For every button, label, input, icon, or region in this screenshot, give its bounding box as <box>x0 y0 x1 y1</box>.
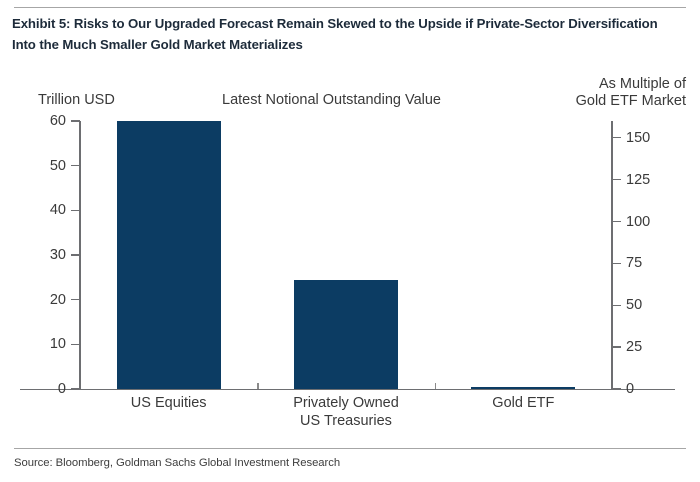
bar[interactable] <box>294 280 398 389</box>
right-axis-caption-line2: Gold ETF Market <box>556 93 686 110</box>
left-axis-tick-label: 40 <box>50 203 66 218</box>
right-axis-tick <box>612 388 621 389</box>
right-axis-tick <box>612 221 621 222</box>
right-axis-tick-label: 125 <box>626 173 650 188</box>
bar-chart: Trillion USD Latest Notional Outstanding… <box>0 0 700 440</box>
right-axis-caption: As Multiple of Gold ETF Market <box>556 76 686 110</box>
x-axis-category-label: Gold ETF <box>435 394 612 412</box>
x-axis-tick <box>257 383 258 389</box>
right-axis-tick-label: 0 <box>626 382 634 397</box>
left-axis-tick <box>71 210 80 211</box>
left-axis-tick <box>71 165 80 166</box>
left-axis-tick <box>71 254 80 255</box>
footer-divider <box>14 448 686 449</box>
chart-title: Latest Notional Outstanding Value <box>222 92 441 109</box>
right-axis-tick-label: 25 <box>626 340 642 355</box>
bar[interactable] <box>471 387 575 389</box>
left-axis-tick <box>71 120 80 121</box>
right-axis-caption-line1: As Multiple of <box>556 76 686 93</box>
plot-area <box>80 121 612 389</box>
right-axis-tick <box>612 263 621 264</box>
left-axis-tick-label: 50 <box>50 159 66 174</box>
left-axis-tick-label: 60 <box>50 114 66 129</box>
x-axis-category-label: US Equities <box>80 394 257 412</box>
source-note: Source: Bloomberg, Goldman Sachs Global … <box>14 457 340 469</box>
right-axis-tick-label: 75 <box>626 256 642 271</box>
right-axis-tick <box>612 305 621 306</box>
left-axis-tick-label: 10 <box>50 337 66 352</box>
right-axis-tick-label: 150 <box>626 131 650 146</box>
left-axis-tick-label: 0 <box>58 382 66 397</box>
bar[interactable] <box>117 121 221 389</box>
x-axis-tick <box>435 383 436 389</box>
left-axis-tick <box>71 388 80 389</box>
left-axis-tick-label: 20 <box>50 293 66 308</box>
left-axis-tick-label: 30 <box>50 248 66 263</box>
left-axis-tick <box>71 299 80 300</box>
right-axis-tick-label: 100 <box>626 215 650 230</box>
right-axis-tick-label: 50 <box>626 298 642 313</box>
left-axis-tick <box>71 344 80 345</box>
right-axis-tick <box>612 137 621 138</box>
left-axis-caption: Trillion USD <box>38 92 115 109</box>
right-axis-tick <box>612 346 621 347</box>
x-axis-category-label: Privately Owned US Treasuries <box>257 394 434 430</box>
right-axis-tick <box>612 179 621 180</box>
